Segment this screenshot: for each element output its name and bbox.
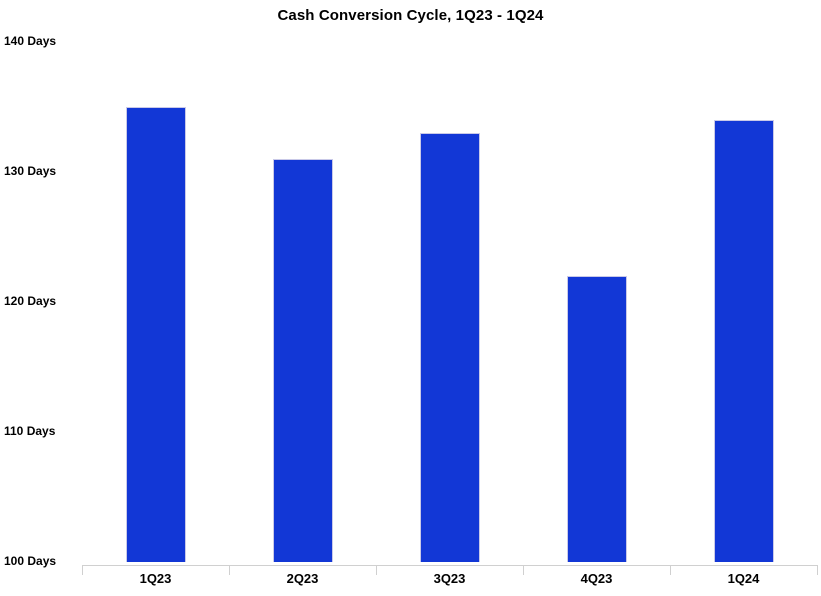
bar-1q24[interactable] xyxy=(714,120,774,562)
bars-layer xyxy=(82,42,818,562)
y-tick-label-130: 130 Days xyxy=(4,164,74,178)
chart-title: Cash Conversion Cycle, 1Q23 - 1Q24 xyxy=(0,7,821,24)
x-tick-label-1q24: 1Q24 xyxy=(670,571,817,586)
x-tick-label-4q23: 4Q23 xyxy=(523,571,670,586)
bar-2q23[interactable] xyxy=(273,159,333,562)
x-tick-mark-5 xyxy=(817,566,818,575)
x-axis-line xyxy=(82,565,818,566)
x-tick-label-1q23: 1Q23 xyxy=(82,571,229,586)
bar-4q23[interactable] xyxy=(567,276,627,562)
x-tick-label-2q23: 2Q23 xyxy=(229,571,376,586)
cash-conversion-cycle-chart: Cash Conversion Cycle, 1Q23 - 1Q24 140 D… xyxy=(0,0,821,596)
y-tick-label-140: 140 Days xyxy=(4,34,74,48)
y-tick-label-100: 100 Days xyxy=(4,554,74,568)
y-tick-label-110: 110 Days xyxy=(4,424,74,438)
bar-3q23[interactable] xyxy=(420,133,480,562)
y-tick-label-120: 120 Days xyxy=(4,294,74,308)
bar-1q23[interactable] xyxy=(126,107,186,562)
x-tick-label-3q23: 3Q23 xyxy=(376,571,523,586)
